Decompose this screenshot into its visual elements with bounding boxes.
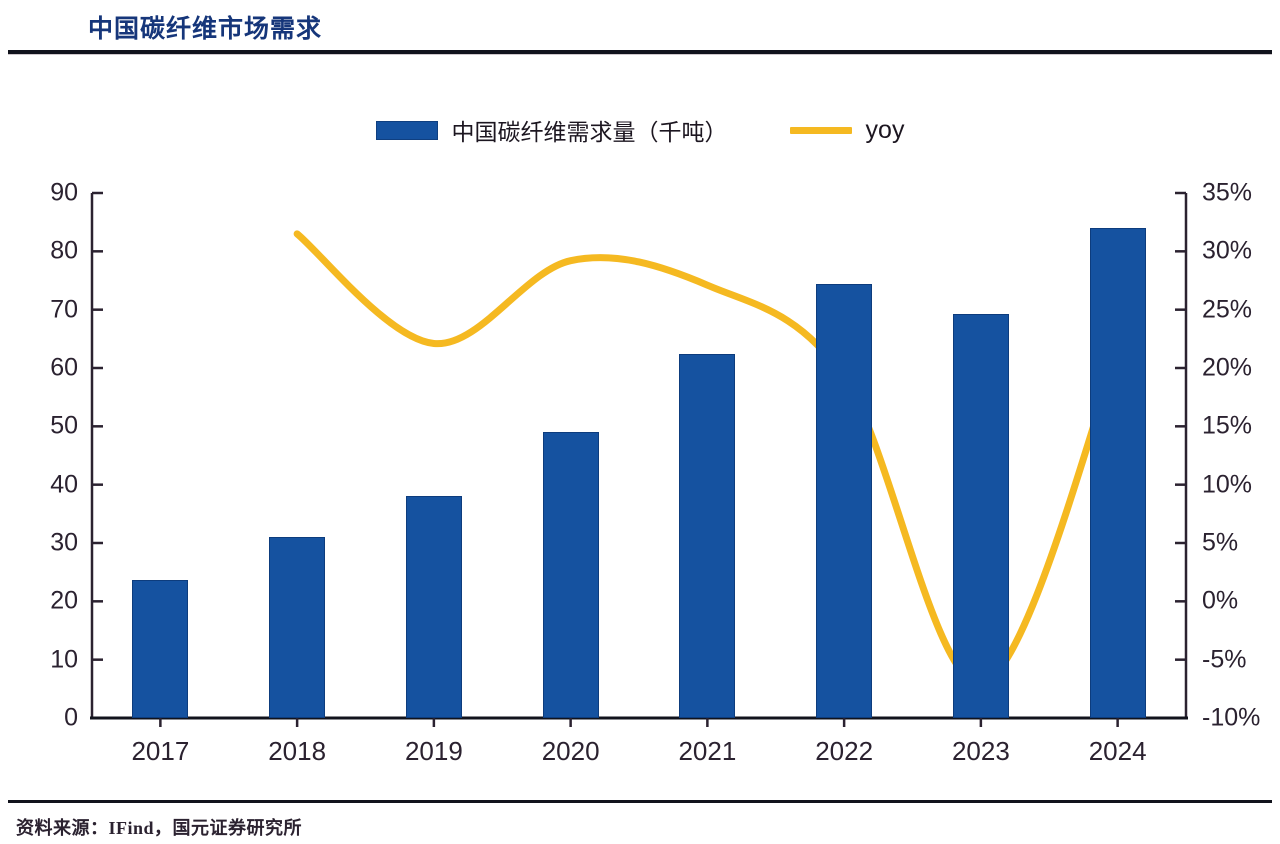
chart-bar — [269, 537, 325, 718]
x-axis-tick-label: 2024 — [1089, 736, 1147, 767]
chart-plot-area: 0102030405060708090-10%-5%0%5%10%15%20%2… — [0, 0, 1280, 844]
footer-divider — [8, 800, 1272, 803]
chart-bar — [679, 354, 735, 718]
source-note: 资料来源：IFind，国元证券研究所 — [16, 814, 302, 840]
x-axis-tick-label: 2020 — [542, 736, 600, 767]
y-axis-left-tick-label: 60 — [0, 354, 78, 383]
y-axis-left-tick-label: 30 — [0, 529, 78, 558]
y-axis-left-tick-label: 10 — [0, 645, 78, 674]
y-axis-right-tick-label: 0% — [1202, 587, 1238, 616]
y-axis-right-tick-label: -10% — [1202, 704, 1260, 733]
x-axis-tick-label: 2023 — [952, 736, 1010, 767]
y-axis-left-tick-label: 0 — [0, 704, 78, 733]
y-axis-right-tick-label: 10% — [1202, 470, 1252, 499]
y-axis-right-tick-label: 15% — [1202, 412, 1252, 441]
x-axis-tick-label: 2019 — [405, 736, 463, 767]
x-axis-tick-label: 2021 — [678, 736, 736, 767]
y-axis-left-tick-label: 90 — [0, 179, 78, 208]
y-axis-left-tick-label: 50 — [0, 412, 78, 441]
y-axis-right-tick-label: -5% — [1202, 645, 1246, 674]
x-axis-tick-label: 2017 — [131, 736, 189, 767]
y-axis-left-tick-label: 20 — [0, 587, 78, 616]
y-axis-right-tick-label: 5% — [1202, 529, 1238, 558]
y-axis-left-tick-label: 80 — [0, 237, 78, 266]
x-axis-tick-label: 2018 — [268, 736, 326, 767]
chart-bar — [543, 432, 599, 718]
y-axis-right-tick-label: 30% — [1202, 237, 1252, 266]
y-axis-right-tick-label: 35% — [1202, 179, 1252, 208]
chart-overlay-svg — [0, 0, 1280, 844]
y-axis-right-tick-label: 20% — [1202, 354, 1252, 383]
x-axis-tick-label: 2022 — [815, 736, 873, 767]
chart-bar — [132, 580, 188, 718]
chart-bar — [1090, 228, 1146, 718]
y-axis-left-tick-label: 40 — [0, 470, 78, 499]
chart-bar — [816, 284, 872, 718]
chart-bar — [406, 496, 462, 718]
y-axis-right-tick-label: 25% — [1202, 295, 1252, 324]
y-axis-left-tick-label: 70 — [0, 295, 78, 324]
chart-bar — [953, 314, 1009, 718]
